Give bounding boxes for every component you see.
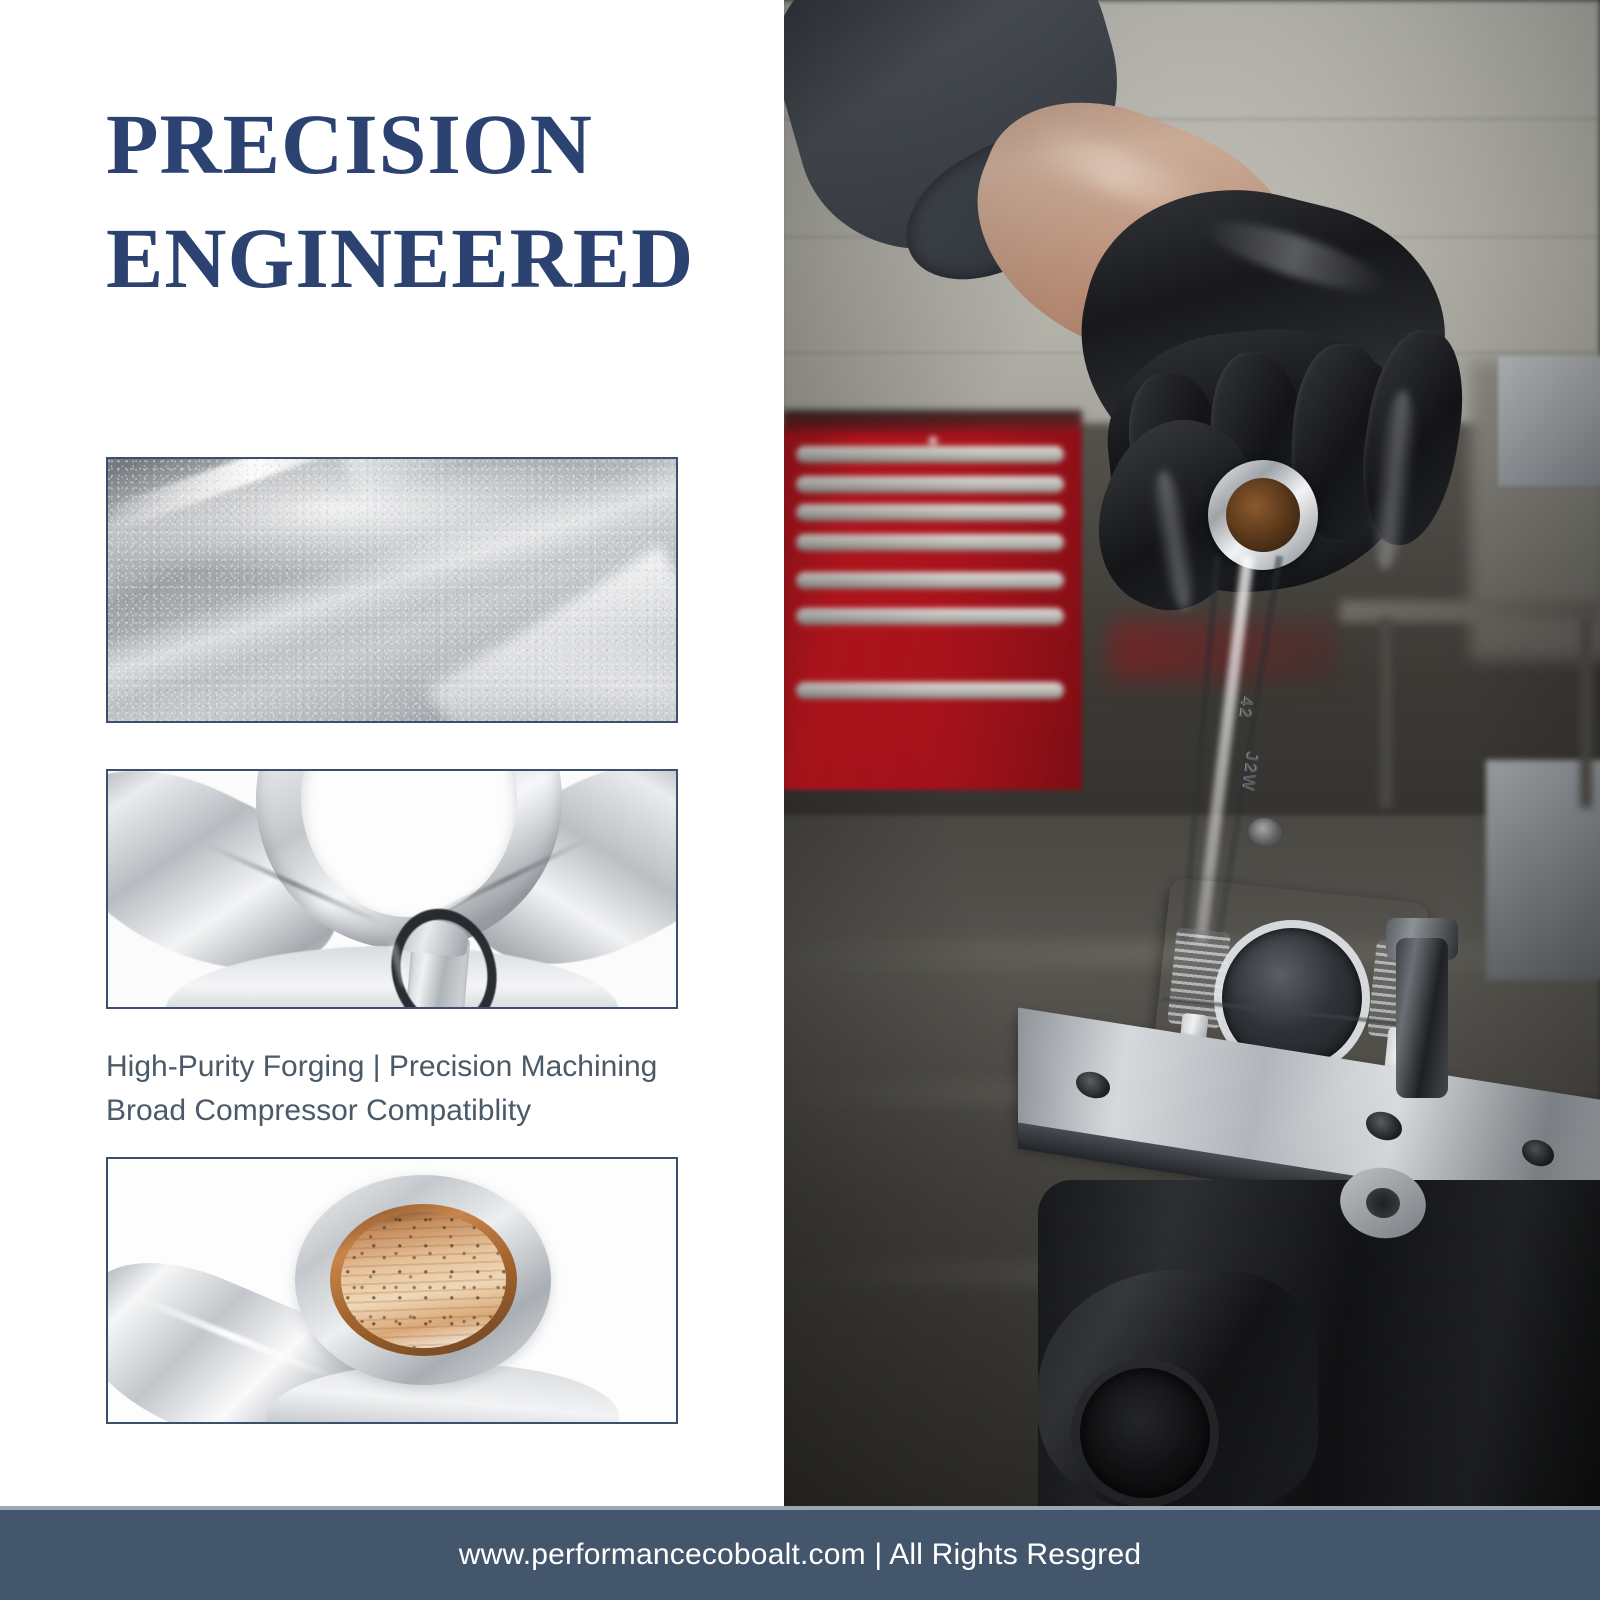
page-title: PRECISION ENGINEERED [106,88,746,315]
tool-chest-drawer [796,446,1064,463]
tool-chest-lock [928,436,938,446]
small-end-closeup [108,1159,676,1422]
rod-forging-mark-42: 42 [1235,695,1258,720]
tool-chest-drawer [796,476,1064,493]
footer-bar: www.performancecoboalt.com | All Rights … [0,1510,1600,1600]
workbench-leg [1580,618,1592,808]
technician-photo: 42 J2W [780,0,1600,1510]
feature-line-2: Broad Compressor Compatiblity [106,1089,706,1133]
tool-chest-drawer [796,572,1064,589]
background-fixture [1498,356,1600,486]
compressor-cylinder-bore [1080,1368,1210,1498]
tool-chest-drawer [796,608,1064,625]
tool-chest-drawer [796,534,1064,551]
detail-image-shot-peened-surface [106,457,678,723]
workbench [1340,600,1600,622]
detail-image-big-end-bolt [106,769,678,1009]
footer-divider [0,1506,1600,1510]
feature-list: High-Purity Forging | Precision Machinin… [106,1045,706,1133]
peened-surface-texture [108,459,676,721]
valve-stem [1396,938,1448,1098]
red-tool-chest [782,430,1082,790]
tool-chest-drawer [796,682,1064,699]
bronze-bushing-bore [341,1212,506,1349]
headline-line-2: ENGINEERED [106,202,746,316]
headline-line-1: PRECISION [106,88,746,202]
peening-speckle [108,459,676,721]
tool-chest-top [782,410,1082,432]
bore-specks [341,1212,506,1349]
footer-website-text: www.performancecoboalt.com | All Rights … [459,1538,1141,1572]
detail-image-small-end-bushing [106,1157,678,1424]
tool-chest-drawer [796,504,1064,521]
workbench-leg [1380,618,1392,808]
panel-photo-seam [776,0,784,1510]
left-content-panel: PRECISION ENGINEERED [0,0,784,1510]
poster-canvas: 42 J2W PRECISION ENGINEERED [0,0,1600,1600]
big-end-closeup [108,771,676,1007]
feature-line-1: High-Purity Forging | Precision Machinin… [106,1045,706,1089]
